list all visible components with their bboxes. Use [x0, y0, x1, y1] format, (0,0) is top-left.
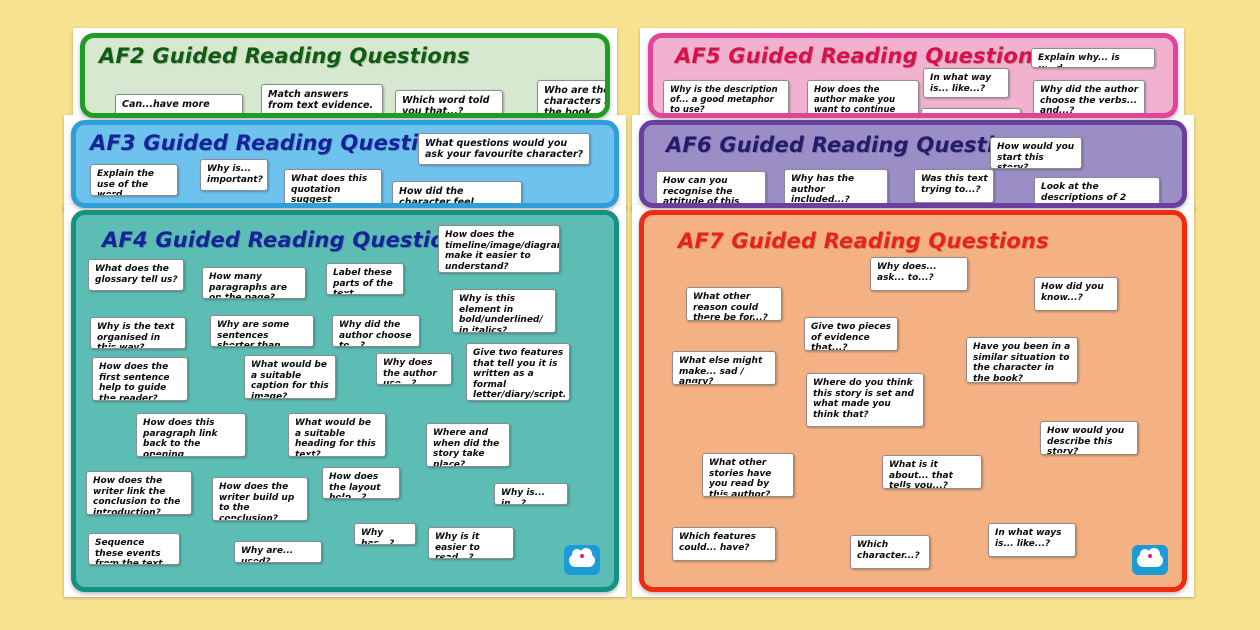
- bubble-af7-8[interactable]: How would you describe this story?: [1040, 421, 1138, 455]
- bubble-af4-15[interactable]: Where and when did the story take place?: [426, 423, 510, 467]
- bubble-af4-17[interactable]: How does the writer link the conclusion …: [86, 471, 192, 515]
- bubble-af4-7[interactable]: Why are some sentences shorter than othe…: [210, 315, 314, 347]
- bubble-af3-5[interactable]: How did the character feel before...and …: [392, 181, 522, 208]
- bubble-af4-14[interactable]: What would be a suitable heading for thi…: [288, 413, 386, 457]
- bubble-af5-5[interactable]: Why did the author choose the verbs... a…: [1033, 80, 1145, 118]
- bubble-af6-3[interactable]: Was this text trying to...?: [914, 169, 994, 203]
- logo-dot: [1148, 554, 1152, 558]
- card-af6-title: AF6 Guided Reading Questions: [666, 133, 1037, 157]
- bubble-af4-1[interactable]: What does the glossary tell us?: [88, 259, 184, 291]
- bubble-af7-9[interactable]: What other stories have you read by this…: [702, 453, 794, 497]
- card-af7-title: AF7 Guided Reading Questions: [678, 229, 1049, 253]
- bubble-af5-4[interactable]: Explain why... is used.: [1031, 48, 1155, 68]
- card-af4-title: AF4 Guided Reading Questions: [102, 228, 473, 252]
- bubble-af3-3[interactable]: What does this quotation suggest about..…: [284, 169, 382, 208]
- bubble-af4-22[interactable]: Why has...?: [354, 523, 416, 545]
- bubble-af7-10[interactable]: What is it about... that tells you...?: [882, 455, 982, 489]
- bubble-af4-19[interactable]: Why is... in...?: [494, 483, 568, 505]
- card-af4[interactable]: AF4 Guided Reading Questions What does t…: [71, 210, 619, 592]
- bubble-af7-6[interactable]: Have you been in a similar situation to …: [966, 337, 1078, 383]
- bubble-af4-23[interactable]: Why is it easier to read...?: [428, 527, 514, 559]
- bubble-af4-3[interactable]: Label these parts of the text.: [326, 263, 404, 295]
- bubble-af5-6[interactable]: [921, 108, 1021, 118]
- bubble-af6-5[interactable]: Look at the descriptions of 2 people. Wh…: [1034, 177, 1160, 208]
- bubble-af7-2[interactable]: Why does... ask... to...?: [870, 257, 968, 291]
- bubble-af2-3[interactable]: Which word told you that...?: [395, 90, 503, 118]
- bubble-af6-2[interactable]: Why has the author included...?: [784, 169, 888, 205]
- bubble-af5-3[interactable]: In what way is... like...?: [923, 68, 1009, 98]
- card-af3[interactable]: AF3 Guided Reading Questions Explain the…: [71, 120, 619, 208]
- poster-canvas: AF2 Guided Reading Questions Can...have …: [0, 0, 1260, 630]
- bubble-af4-8[interactable]: Why did the author choose to...?: [332, 315, 420, 347]
- bubble-af4-6[interactable]: Why is the text organised in this way?: [90, 317, 186, 349]
- bubble-af7-11[interactable]: Which features could... have?: [672, 527, 776, 561]
- bubble-af4-18[interactable]: How does the writer build up to the conc…: [212, 477, 308, 521]
- card-af3-title: AF3 Guided Reading Questions: [90, 131, 461, 155]
- bubble-af5-2[interactable]: How does the author make you want to con…: [807, 80, 919, 118]
- bubble-af7-12[interactable]: Which character...?: [850, 535, 930, 569]
- bubble-af7-1[interactable]: What other reason could there be for...?: [686, 287, 782, 321]
- bubble-af4-9[interactable]: Why does the author use...?: [376, 353, 452, 385]
- bubble-af4-4[interactable]: How does the timeline/image/diagram/layo…: [438, 225, 560, 273]
- twinkl-logo: [1132, 545, 1168, 575]
- bubble-af7-3[interactable]: How did you know...?: [1034, 277, 1118, 311]
- card-af2-title: AF2 Guided Reading Questions: [99, 44, 470, 68]
- bubble-af5-1[interactable]: Why is the description of... a good meta…: [663, 80, 789, 116]
- logo-dot: [580, 554, 584, 558]
- bubble-af7-13[interactable]: In what ways is... like...?: [988, 523, 1076, 557]
- card-af2[interactable]: AF2 Guided Reading Questions Can...have …: [80, 33, 610, 118]
- bubble-af2-2[interactable]: Match answers from text evidence.: [261, 84, 383, 118]
- bubble-af7-4[interactable]: What else might make... sad / angry?: [672, 351, 776, 385]
- bubble-af2-4[interactable]: Who are the key characters in the book..…: [537, 80, 610, 118]
- bubble-af4-10[interactable]: Give two features that tell you it is wr…: [466, 343, 570, 401]
- bubble-af3-2[interactable]: Why is... important?: [200, 159, 268, 191]
- bubble-af4-16[interactable]: How does the layout help...?: [322, 467, 400, 499]
- bubble-af7-7[interactable]: Where do you think this story is set and…: [806, 373, 924, 427]
- twinkl-logo: [564, 545, 600, 575]
- bubble-af4-12[interactable]: What would be a suitable caption for thi…: [244, 355, 336, 399]
- bubble-af2-1[interactable]: Can...have more: [115, 94, 243, 118]
- bubble-af6-1[interactable]: How can you recognise the attitude of th…: [656, 171, 766, 208]
- bubble-af4-13[interactable]: How does this paragraph link back to the…: [136, 413, 246, 457]
- bubble-af4-2[interactable]: How many paragraphs are on the page?: [202, 267, 306, 299]
- card-af5[interactable]: AF5 Guided Reading Questions Why is the …: [648, 33, 1178, 118]
- bubble-af7-5[interactable]: Give two pieces of evidence that...?: [804, 317, 898, 351]
- bubble-af3-1[interactable]: Explain the use of the word...: [90, 164, 178, 196]
- card-af6[interactable]: AF6 Guided Reading Questions How can you…: [639, 120, 1187, 208]
- bubble-af4-5[interactable]: Why is this element in bold/underlined/ …: [452, 289, 556, 333]
- bubble-af4-11[interactable]: How does the first sentence help to guid…: [92, 357, 188, 401]
- bubble-af4-20[interactable]: Sequence these events from the text.: [88, 533, 180, 565]
- bubble-af4-21[interactable]: Why are... used?: [234, 541, 322, 563]
- bubble-af3-4[interactable]: What questions would you ask your favour…: [418, 133, 590, 165]
- card-af5-title: AF5 Guided Reading Questions: [675, 44, 1046, 68]
- card-af7[interactable]: AF7 Guided Reading Questions What other …: [639, 210, 1187, 592]
- bubble-af6-4[interactable]: How would you start this story?: [990, 137, 1082, 169]
